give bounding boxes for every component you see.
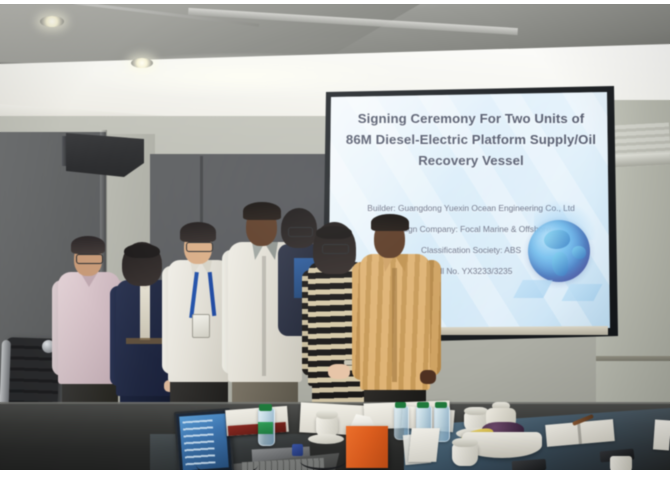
cup-lid [316,410,338,419]
bottle-cap [395,402,406,408]
marker-pen [292,444,303,456]
bottle-cap [435,402,447,408]
globe-landmass [572,246,586,259]
clasped-hands [328,364,350,379]
conference-room-photograph: Signing Ceremony For Two Units of 86M Di… [0,4,670,470]
hair-bangs [124,244,160,258]
eyeglasses-icon [186,242,213,252]
top-white-margin [0,0,670,4]
cup-lid [464,407,488,415]
hair [243,202,281,220]
speaker-icon [66,133,144,177]
eyeglasses-icon [76,254,103,264]
cup-lid [452,438,478,447]
hair [71,236,105,254]
hand [420,370,436,384]
shirt-placket [392,268,397,382]
globe-landmass [552,252,568,276]
hair [180,222,216,242]
eyeglasses-icon [322,244,349,254]
hair-bangs [316,226,352,239]
cable [300,452,346,470]
mobile-phone[interactable] [512,459,547,470]
teacup [452,444,478,466]
cable [196,454,258,470]
bottle-cap [259,404,272,411]
bottle-label [258,422,273,434]
id-badge [192,314,210,338]
slide-title-line-2: 86M Diesel-Electric Platform Supply/Oil [340,129,602,150]
bottom-white-margin [0,470,670,487]
eyeglasses-icon [288,227,313,237]
downlight-icon [40,16,64,27]
mug [610,456,632,470]
tissue-box [346,426,388,468]
place-card [653,419,670,450]
dress-placket [140,282,150,340]
shirt-placket [262,256,266,376]
place-card [408,428,440,462]
right-wall-trim [596,356,670,361]
downlight-icon [131,58,153,68]
slide-title: Signing Ceremony For Two Units of 86M Di… [340,108,602,171]
bottle-cap [417,402,429,408]
hair [371,214,409,231]
slide-title-line-1: Signing Ceremony For Two Units of [340,108,602,129]
slide-title-line-3: Recovery Vessel [340,150,602,171]
saucer [308,434,344,444]
